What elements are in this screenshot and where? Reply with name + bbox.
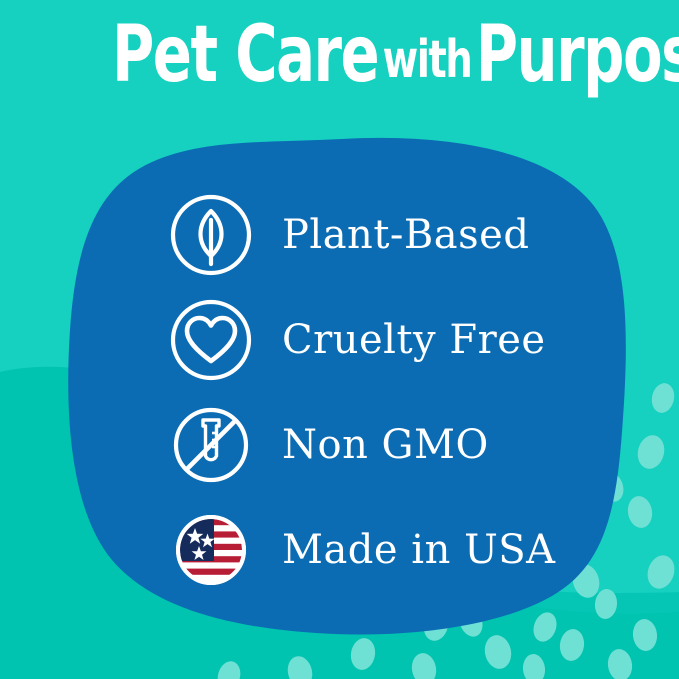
headline-text: Pet CarewithPurpose® — [112, 16, 679, 94]
claim-label-non-gmo: Non GMO — [282, 425, 489, 465]
leaf-icon — [168, 192, 254, 278]
heart-icon — [168, 297, 254, 383]
claim-label-made-in-usa: Made in USA — [282, 530, 556, 570]
headline-word-purpose: Purpose — [476, 16, 679, 94]
page-title: Pet CarewithPurpose® — [0, 16, 679, 94]
claim-row-non-gmo: Non GMO — [168, 392, 588, 497]
no-gmo-flask-icon — [168, 402, 254, 488]
pet-care-with-purpose-poster: Pet CarewithPurpose® Plant-Based — [0, 0, 679, 679]
headline-word-with: with — [378, 30, 475, 90]
claim-label-cruelty-free: Cruelty Free — [282, 320, 546, 360]
headline-word-care: Care — [235, 16, 378, 94]
claim-label-plant-based: Plant-Based — [282, 215, 529, 255]
claim-row-cruelty-free: Cruelty Free — [168, 287, 588, 392]
claim-row-made-in-usa: Made in USA — [168, 497, 588, 602]
usa-flag-icon — [168, 507, 254, 593]
claim-row-plant-based: Plant-Based — [168, 182, 588, 287]
claims-list: Plant-Based Cruelty Free — [168, 182, 588, 602]
headline-word-pet: Pet — [112, 16, 217, 94]
